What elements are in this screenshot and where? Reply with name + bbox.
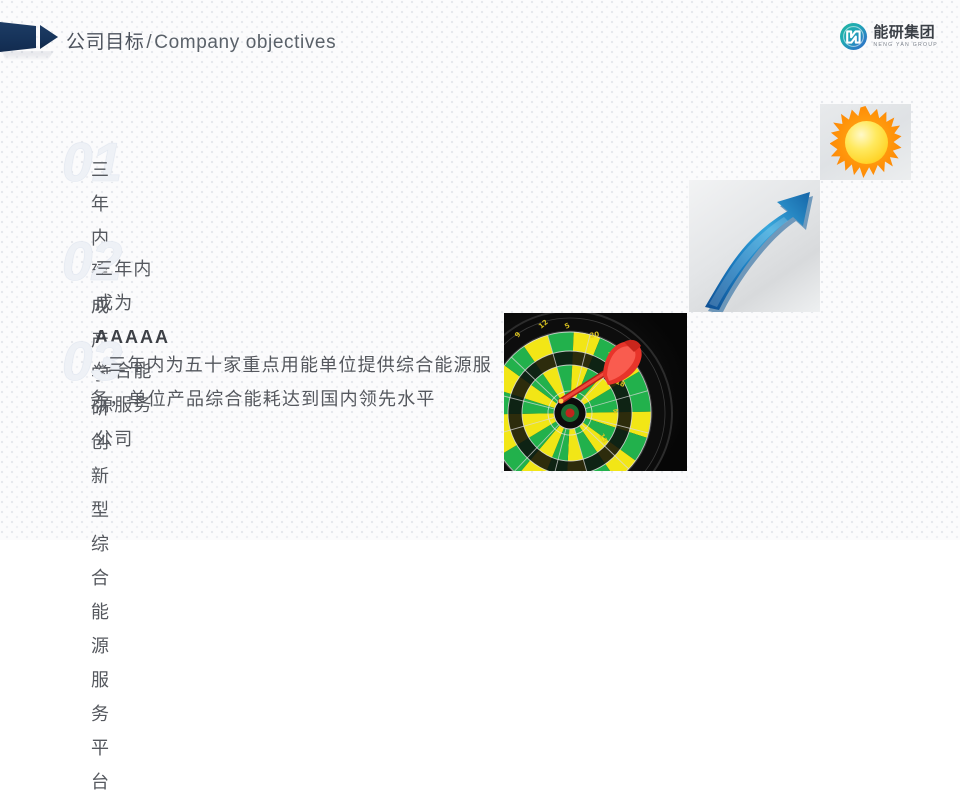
page-title: 公司目标/Company objectives <box>66 27 336 54</box>
objective-text-3: 三年内为五十家重点用能单位提供综合能源服务，单位产品综合能耗达到国内领先水平 <box>90 348 500 416</box>
page-title-separator: / <box>144 32 154 53</box>
slide-canvas: 公司目标/Company objectives 能研集团 NENG YAN GR… <box>0 0 960 540</box>
sun-core-shape <box>845 121 888 164</box>
logo-company-cn: 能研集团 <box>873 25 938 40</box>
sun-photo <box>820 104 911 180</box>
company-logo: 能研集团 NENG YAN GROUP <box>840 23 938 50</box>
logo-text-block: 能研集团 NENG YAN GROUP <box>873 25 938 48</box>
svg-text:20: 20 <box>589 330 600 340</box>
objective-text-3-main: 三年内为五十家重点用能单位提供综合能源服务，单位产品综合能耗达到国内领先水平 <box>90 355 492 409</box>
rising-arrow-photo <box>689 180 820 312</box>
page-title-cn: 公司目标 <box>66 32 144 53</box>
logo-circle-icon <box>840 23 867 50</box>
header-accent-ribbon <box>0 22 58 52</box>
dartboard-photo: 9 12 5 20 1 18 4 13 <box>504 313 687 471</box>
ribbon-shadow <box>2 51 54 60</box>
ribbon-body <box>0 22 36 52</box>
page-title-en: Company objectives <box>154 32 336 53</box>
objective-text-2-lead: 三年内成为 <box>95 259 153 313</box>
logo-company-en: NENG YAN GROUP <box>873 43 938 48</box>
ribbon-arrow-tip <box>40 25 58 49</box>
